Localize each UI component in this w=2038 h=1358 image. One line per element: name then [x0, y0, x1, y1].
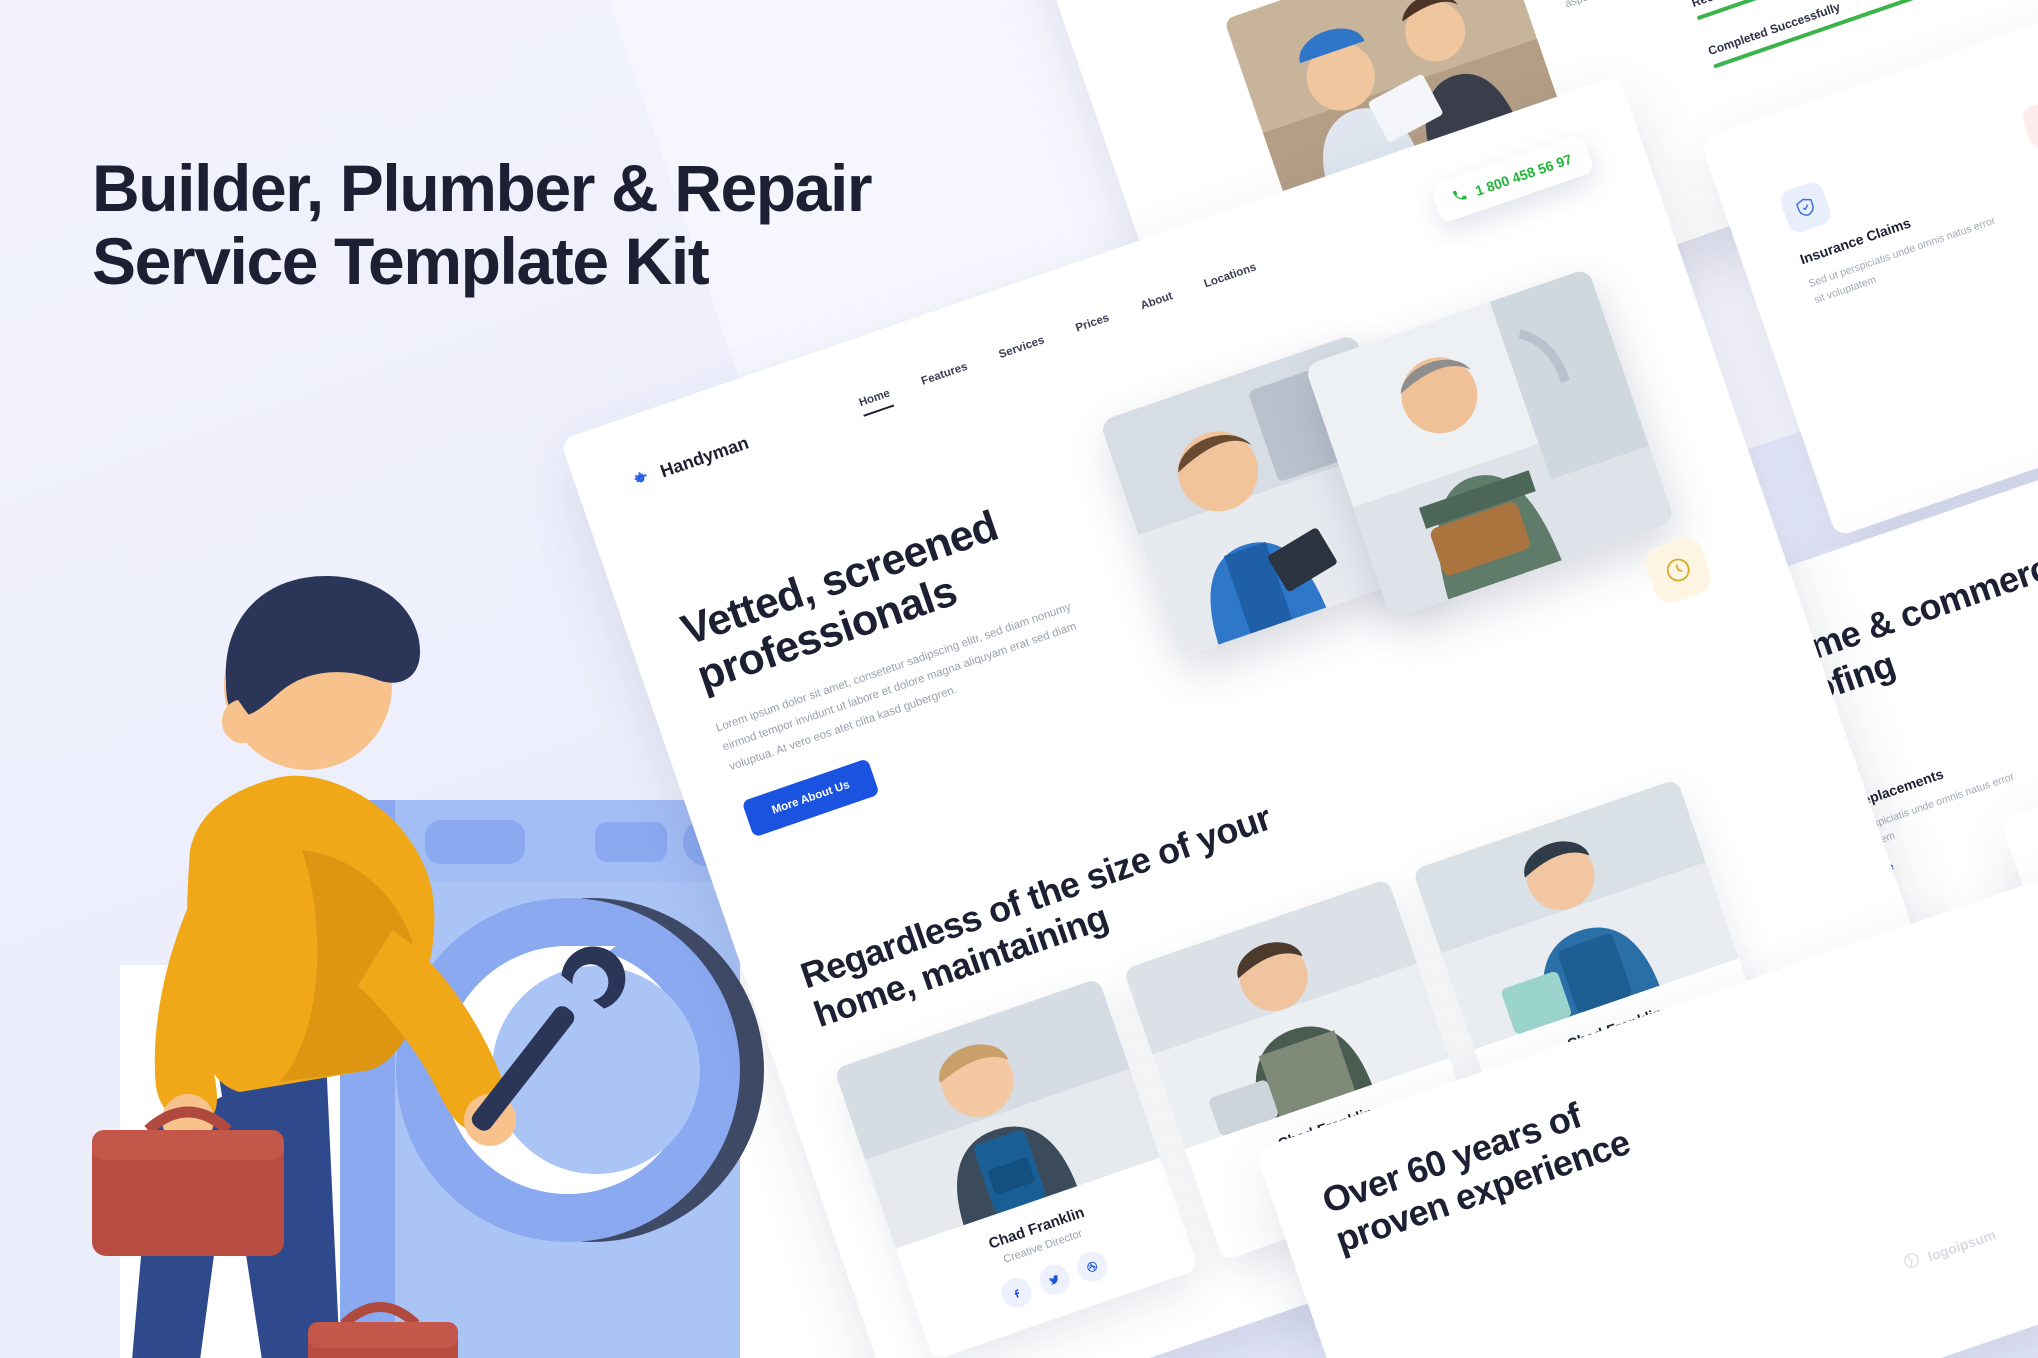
brand-name: Handyman	[657, 432, 751, 482]
phone-icon	[1450, 186, 1470, 208]
service-item[interactable]: Insurance Claims Sed ut perspiciatis und…	[1778, 125, 2016, 308]
nav-link-locations[interactable]: Locations	[1203, 261, 1258, 290]
nav-link-home[interactable]: Home	[858, 387, 892, 409]
promo-headline-line2: Service Template Kit	[92, 225, 1052, 298]
gear-icon	[628, 466, 653, 491]
twitter-icon[interactable]	[1035, 1261, 1073, 1299]
roof-icon	[2020, 96, 2038, 152]
promo-headline-line1: Builder, Plumber & Repair	[92, 151, 871, 225]
nav-link-prices[interactable]: Prices	[1074, 312, 1111, 335]
team-member-card[interactable]: Chad Franklin Creative Director	[834, 978, 1199, 1358]
promo-headline: Builder, Plumber & Repair Service Templa…	[92, 152, 1052, 297]
more-about-us-button[interactable]: More About Us	[742, 758, 880, 837]
toolbox-illustration	[92, 1112, 284, 1256]
claims-icon	[1778, 179, 1834, 235]
nav-link-features[interactable]: Features	[920, 361, 969, 388]
service-item[interactable]: Re-Roofing Sed ut perspiciatis unde omni…	[2020, 42, 2038, 225]
dribbble-icon[interactable]	[1073, 1248, 1111, 1286]
promo-banner: Builder, Plumber & Repair Service Templa…	[0, 0, 2038, 1358]
nav-link-about[interactable]: About	[1139, 290, 1174, 312]
nav-link-services[interactable]: Services	[997, 334, 1046, 361]
facebook-icon[interactable]	[997, 1274, 1035, 1312]
phone-number: 1 800 458 56 97	[1473, 151, 1574, 199]
